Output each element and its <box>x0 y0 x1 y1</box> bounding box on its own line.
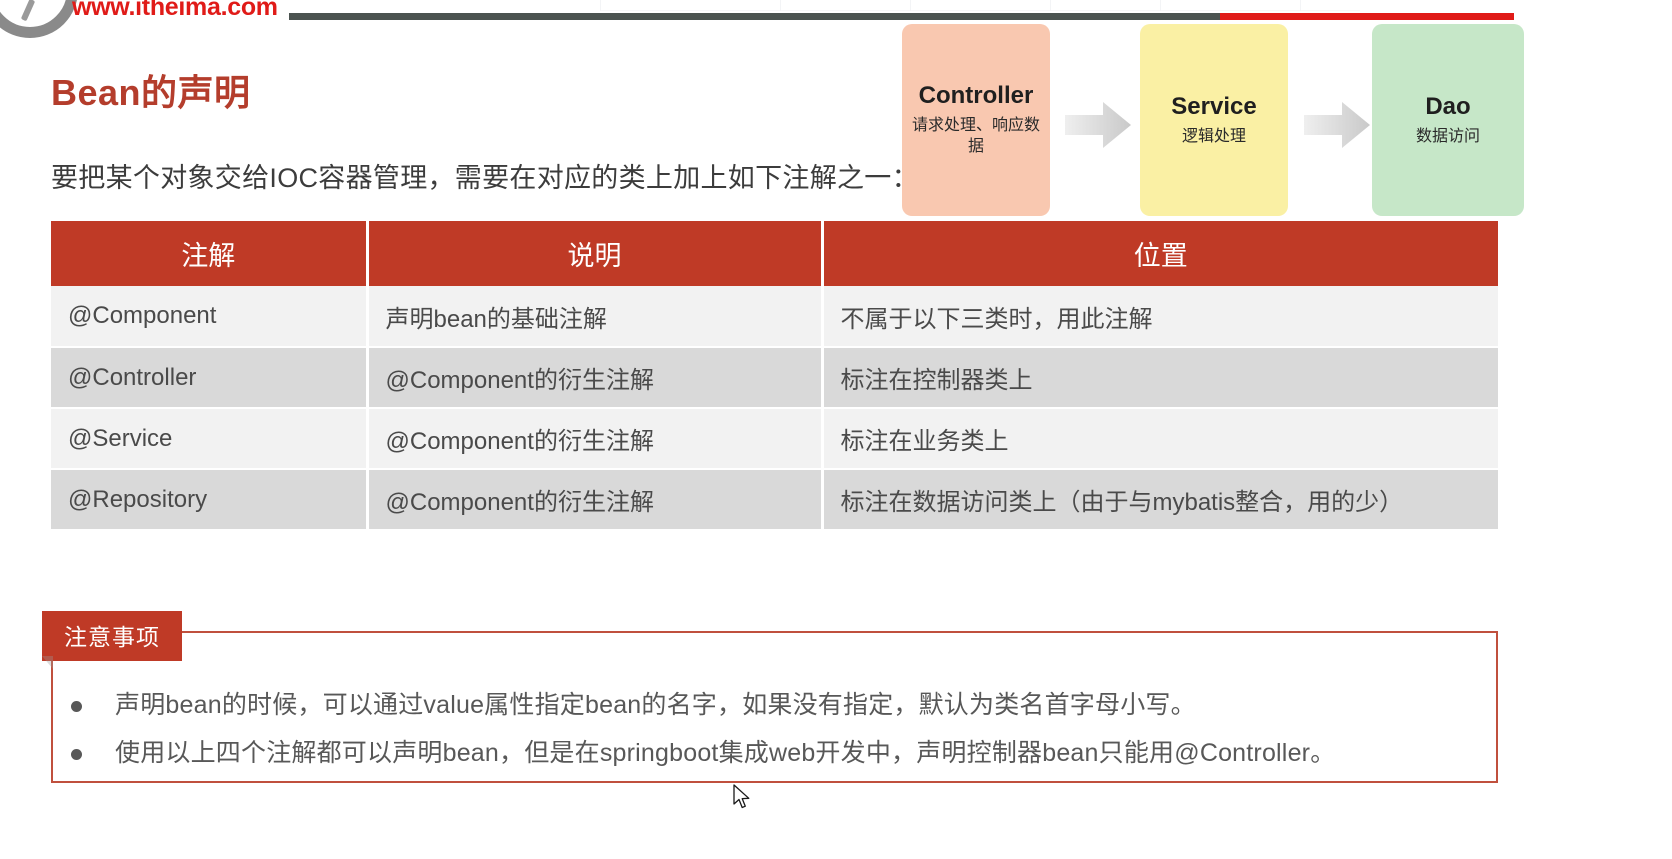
list-item: 声明bean的时候，可以通过value属性指定bean的名字，如果没有指定，默认… <box>115 693 1496 718</box>
cell-description: 声明bean的基础注解 <box>367 286 822 347</box>
flow-box-dao-subtitle: 数据访问 <box>1416 126 1480 148</box>
flow-box-service-subtitle: 逻辑处理 <box>1182 126 1246 148</box>
list-item: 使用以上四个注解都可以声明bean，但是在springboot集成web开发中，… <box>115 741 1496 766</box>
cell-description: @Component的衍生注解 <box>367 347 822 408</box>
header-divider-accent <box>1220 13 1514 20</box>
flow-box-controller-subtitle: 请求处理、响应数据 <box>912 115 1040 158</box>
table-header-row: 注解 说明 位置 <box>51 221 1498 286</box>
bullet-icon <box>71 701 82 712</box>
itheima-logo-icon <box>0 0 78 38</box>
cell-annotation: @Controller <box>51 347 367 408</box>
list-item-text: 声明bean的时候，可以通过value属性指定bean的名字，如果没有指定，默认… <box>115 691 1196 719</box>
flow-box-dao-title: Dao <box>1425 93 1470 122</box>
arrow-right-icon <box>1304 102 1370 148</box>
logo-url-text: www.itheima.com <box>72 0 278 22</box>
list-item-text: 使用以上四个注解都可以声明bean，但是在springboot集成web开发中，… <box>115 739 1335 767</box>
notes-badge-label: 注意事项 <box>42 611 182 661</box>
cell-position: 标注在数据访问类上（由于与mybatis整合，用的少） <box>822 469 1498 530</box>
table-row: @Repository @Component的衍生注解 标注在数据访问类上（由于… <box>51 469 1498 530</box>
cell-position: 不属于以下三类时，用此注解 <box>822 286 1498 347</box>
flow-box-service: Service 逻辑处理 <box>1140 24 1288 216</box>
page-title: Bean的声明 <box>51 64 251 116</box>
cell-annotation: @Component <box>51 286 367 347</box>
mouse-cursor-icon <box>733 784 753 810</box>
column-header-description: 说明 <box>367 221 822 286</box>
table-row: @Controller @Component的衍生注解 标注在控制器类上 <box>51 347 1498 408</box>
column-header-annotation: 注解 <box>51 221 367 286</box>
header-divider-bar <box>289 13 1514 20</box>
annotations-table: 注解 说明 位置 @Component 声明bean的基础注解 不属于以下三类时… <box>51 221 1498 531</box>
bullet-icon <box>71 749 82 760</box>
arrow-right-icon <box>1065 102 1131 148</box>
cell-description: @Component的衍生注解 <box>367 408 822 469</box>
column-header-position: 位置 <box>822 221 1498 286</box>
header-ghost-artifact <box>600 0 1360 11</box>
flow-box-controller-title: Controller <box>919 82 1034 111</box>
flow-box-service-title: Service <box>1171 93 1256 122</box>
cell-annotation: @Repository <box>51 469 367 530</box>
lead-paragraph: 要把某个对象交给IOC容器管理，需要在对应的类上加上如下注解之一： <box>51 156 919 195</box>
layer-flow-diagram: Controller 请求处理、响应数据 Service 逻辑处理 <box>902 24 1658 216</box>
table-row: @Component 声明bean的基础注解 不属于以下三类时，用此注解 <box>51 286 1498 347</box>
table-row: @Service @Component的衍生注解 标注在业务类上 <box>51 408 1498 469</box>
cell-position: 标注在业务类上 <box>822 408 1498 469</box>
flow-box-dao: Dao 数据访问 <box>1372 24 1524 216</box>
slide-page: www.itheima.com Bean的声明 要把某个对象交给IOC容器管理，… <box>0 0 1672 859</box>
cell-description: @Component的衍生注解 <box>367 469 822 530</box>
cell-annotation: @Service <box>51 408 367 469</box>
notes-callout: 注意事项 声明bean的时候，可以通过value属性指定bean的名字，如果没有… <box>51 631 1498 783</box>
flow-box-controller: Controller 请求处理、响应数据 <box>902 24 1050 216</box>
cell-position: 标注在控制器类上 <box>822 347 1498 408</box>
notes-list: 声明bean的时候，可以通过value属性指定bean的名字，如果没有指定，默认… <box>53 633 1496 766</box>
